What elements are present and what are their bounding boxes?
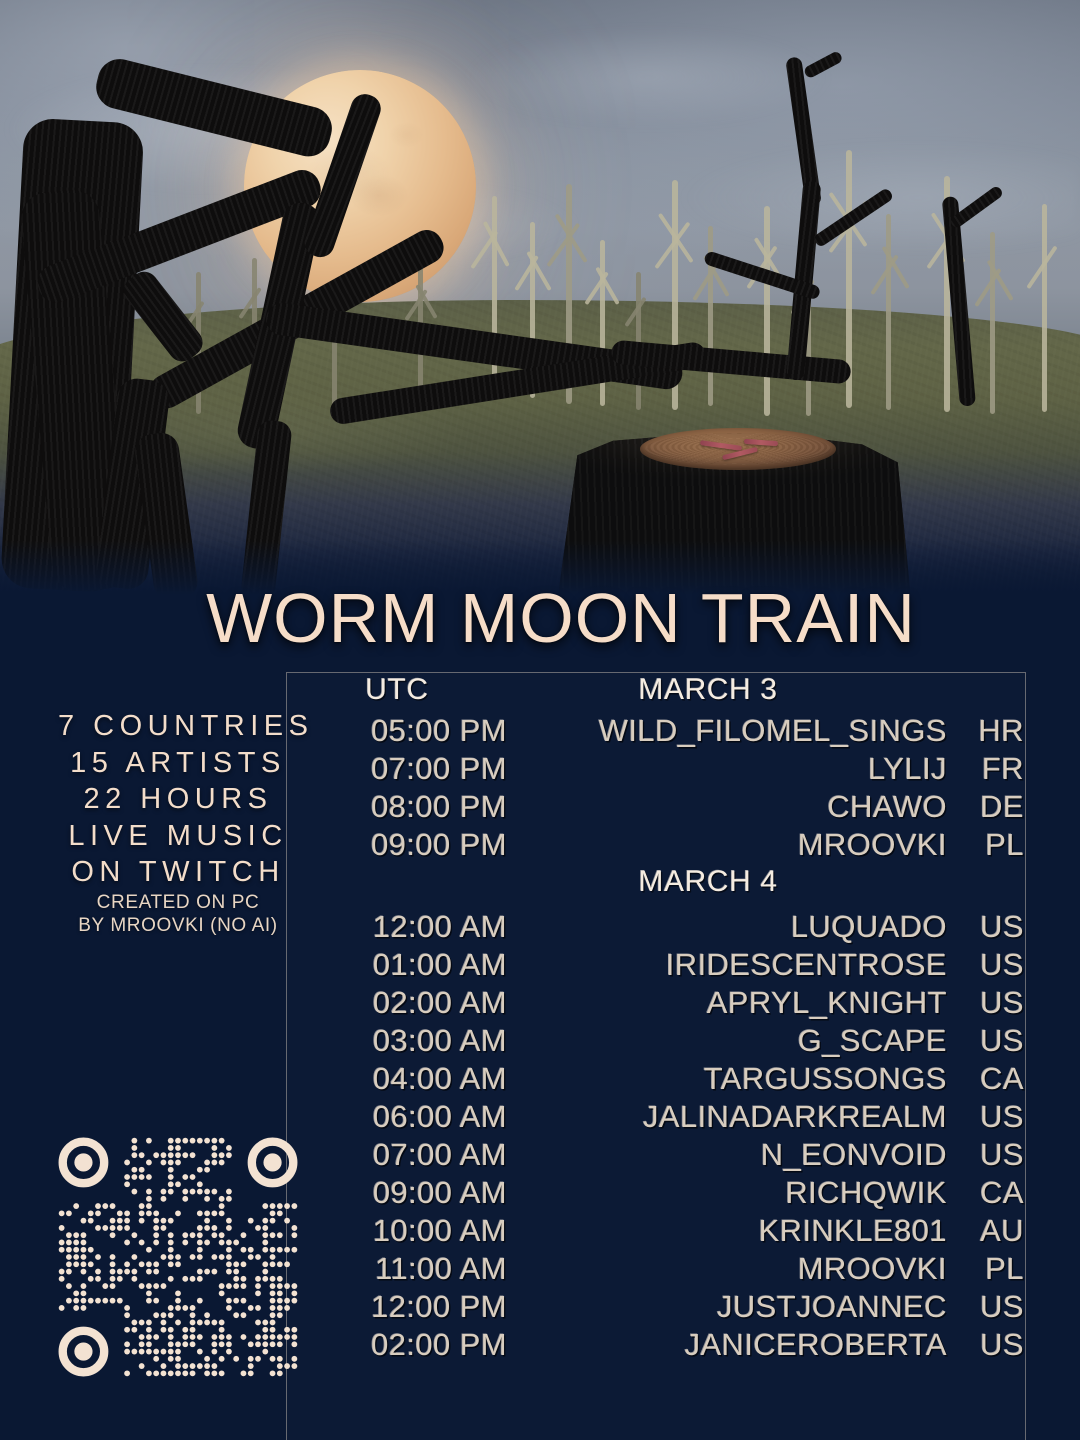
schedule-row[interactable]: 04:00 AMTARGUSSONGSCA [287,1061,1027,1099]
slot-time: 05:00 PM [287,713,507,749]
slot-country: PL [965,1251,1027,1287]
schedule-row[interactable]: 02:00 PMJANICEROBERTAUS [287,1327,1027,1365]
qr-code[interactable] [58,1137,298,1377]
credit-line-2: BY MROOVKI (NO AI) [58,915,298,937]
slot-time: 07:00 PM [287,751,507,787]
schedule-row[interactable]: 02:00 AMAPRYL_KNIGHTUS [287,985,1027,1023]
slot-time: 11:00 AM [287,1251,507,1287]
slot-country: FR [965,751,1027,787]
slot-artist: N_EONVOID [507,1137,965,1173]
slot-time: 08:00 PM [287,789,507,825]
slot-country: AU [965,1213,1027,1249]
schedule-row[interactable]: 07:00 PMLYLIJFR [287,751,1027,789]
slot-country: US [965,985,1027,1021]
slot-country: CA [965,1175,1027,1211]
slot-artist: MROOVKI [507,1251,965,1287]
schedule-date-row: MARCH 4 [287,865,1027,909]
schedule-row[interactable]: 09:00 AMRICHQWIKCA [287,1175,1027,1213]
slot-time: 09:00 AM [287,1175,507,1211]
slot-time: 09:00 PM [287,827,507,863]
slot-country: CA [965,1061,1027,1097]
schedule-row[interactable]: 08:00 PMCHAWODE [287,789,1027,827]
artwork-illustration [0,0,1080,600]
slot-time: 12:00 AM [287,909,507,945]
schedule-table: UTCMARCH 305:00 PMWILD_FILOMEL_SINGSHR07… [287,673,1027,1365]
schedule-row[interactable]: 12:00 AMLUQUADOUS [287,909,1027,947]
schedule-row[interactable]: 05:00 PMWILD_FILOMEL_SINGSHR [287,713,1027,751]
date-header-day2: MARCH 4 [507,865,965,899]
schedule-row[interactable]: 09:00 PMMROOVKIPL [287,827,1027,865]
slot-time: 07:00 AM [287,1137,507,1173]
schedule-row[interactable]: 07:00 AMN_EONVOIDUS [287,1137,1027,1175]
slot-country: PL [965,827,1027,863]
schedule-panel: UTCMARCH 305:00 PMWILD_FILOMEL_SINGSHR07… [286,672,1026,1440]
slot-country: US [965,1099,1027,1135]
info-block: 7 COUNTRIES 15 ARTISTS 22 HOURS LIVE MUS… [58,708,298,937]
slot-artist: MROOVKI [507,827,965,863]
slot-artist: JANICEROBERTA [507,1327,965,1363]
slot-time: 06:00 AM [287,1099,507,1135]
info-line-hours: 22 HOURS [58,781,298,818]
schedule-row[interactable]: 01:00 AMIRIDESCENTROSEUS [287,947,1027,985]
slot-artist: RICHQWIK [507,1175,965,1211]
slot-artist: KRINKLE801 [507,1213,965,1249]
qr-finder-dot-1 [74,1153,92,1171]
poster-title: WORM MOON TRAIN [0,578,1080,658]
schedule-row[interactable]: 12:00 PMJUSTJOANNECUS [287,1289,1027,1327]
slot-time: 03:00 AM [287,1023,507,1059]
slot-country: HR [965,713,1027,749]
slot-time: 02:00 PM [287,1327,507,1363]
schedule-row[interactable]: 06:00 AMJALINADARKREALMUS [287,1099,1027,1137]
slot-time: 12:00 PM [287,1289,507,1325]
poster-root: WORM MOON TRAIN 7 COUNTRIES 15 ARTISTS 2… [0,0,1080,1440]
schedule-row[interactable]: 11:00 AMMROOVKIPL [287,1251,1027,1289]
slot-time: 02:00 AM [287,985,507,1021]
slot-artist: LUQUADO [507,909,965,945]
slot-artist: LYLIJ [507,751,965,787]
slot-artist: APRYL_KNIGHT [507,985,965,1021]
info-line-on-twitch: ON TWITCH [58,854,298,891]
slot-artist: TARGUSSONGS [507,1061,965,1097]
schedule-row[interactable]: 03:00 AMG_SCAPEUS [287,1023,1027,1061]
info-line-live-music: LIVE MUSIC [58,818,298,855]
slot-country: DE [965,789,1027,825]
slot-artist: WILD_FILOMEL_SINGS [507,713,965,749]
slot-time: 01:00 AM [287,947,507,983]
date-header-day1: MARCH 3 [507,673,965,707]
timezone-header: UTC [287,673,507,707]
info-line-artists: 15 ARTISTS [58,745,298,782]
slot-artist: IRIDESCENTROSE [507,947,965,983]
slot-time: 04:00 AM [287,1061,507,1097]
slot-country: US [965,1289,1027,1325]
slot-artist: CHAWO [507,789,965,825]
slot-country: US [965,909,1027,945]
qr-finder-dot-3 [74,1342,92,1360]
slot-artist: JALINADARKREALM [507,1099,965,1135]
slot-time: 10:00 AM [287,1213,507,1249]
slot-artist: G_SCAPE [507,1023,965,1059]
qr-finder-dot-2 [263,1153,281,1171]
slot-country: US [965,947,1027,983]
info-line-countries: 7 COUNTRIES [58,708,298,745]
slot-country: US [965,1023,1027,1059]
schedule-row[interactable]: 10:00 AMKRINKLE801AU [287,1213,1027,1251]
slot-artist: JUSTJOANNEC [507,1289,965,1325]
qr-code-graphic[interactable] [58,1137,298,1377]
slot-country: US [965,1327,1027,1363]
credit-line-1: CREATED ON PC [58,892,298,914]
schedule-header-row: UTCMARCH 3 [287,673,1027,713]
slot-country: US [965,1137,1027,1173]
